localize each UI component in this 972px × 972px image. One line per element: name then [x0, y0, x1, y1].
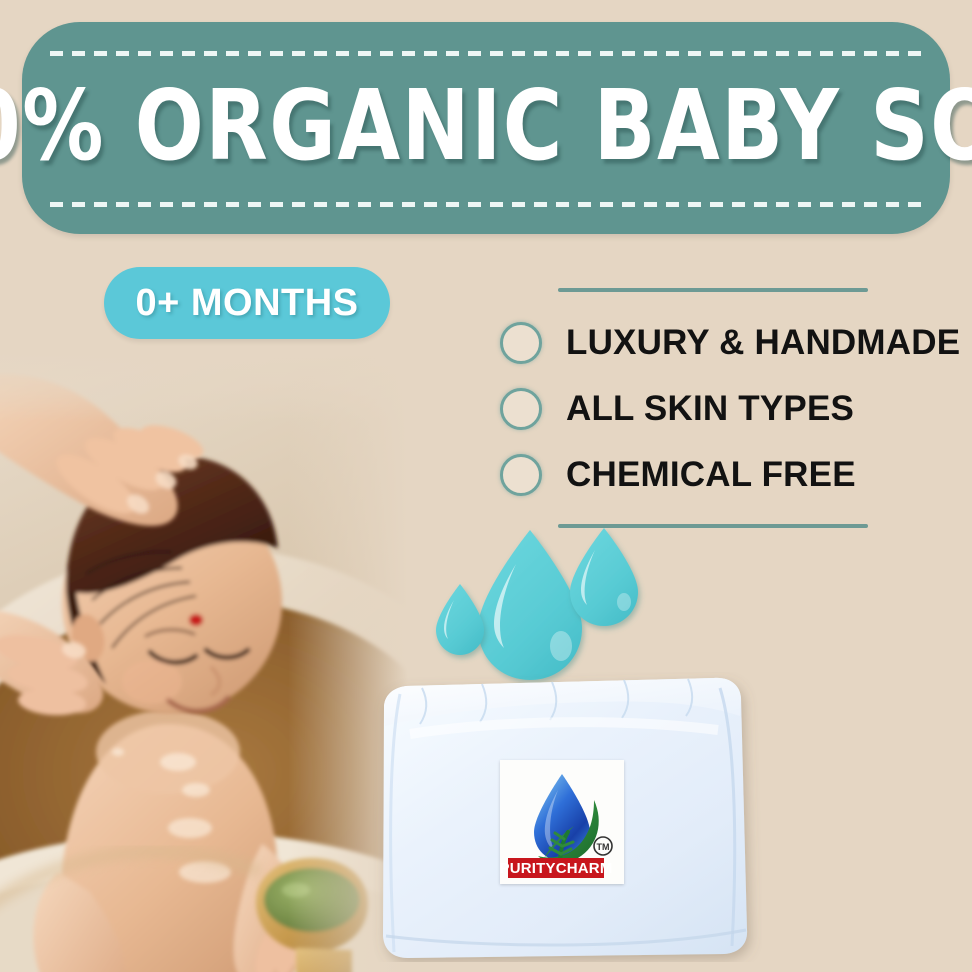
- feature-divider-top: [558, 288, 868, 292]
- baby-bath-photo: [0, 352, 408, 972]
- feature-list: LUXURY & HANDMADE ALL SKIN TYPES CHEMICA…: [492, 288, 962, 528]
- bullet-circle-icon: [500, 322, 542, 364]
- feature-label: LUXURY & HANDMADE: [566, 323, 960, 363]
- dashed-line-bottom: [50, 202, 922, 207]
- poster-canvas: 100% ORGANIC BABY SOAP 0+ MONTHS LUXURY …: [0, 0, 972, 972]
- droplet-small: [436, 584, 484, 655]
- feature-item: LUXURY & HANDMADE: [492, 310, 962, 376]
- page-title: 100% ORGANIC BABY SOAP: [27, 57, 946, 196]
- bullet-circle-icon: [500, 388, 542, 430]
- product-brand-label: TM PURITYCHARM: [500, 760, 624, 884]
- feature-item: CHEMICAL FREE: [492, 442, 962, 508]
- header-banner: 100% ORGANIC BABY SOAP: [22, 22, 950, 234]
- droplet-large: [478, 530, 582, 680]
- dashed-line-top: [50, 51, 922, 56]
- feature-item: ALL SKIN TYPES: [492, 376, 962, 442]
- feature-label: ALL SKIN TYPES: [566, 389, 854, 429]
- age-badge: 0+ MONTHS: [104, 267, 390, 339]
- droplet-medium: [570, 528, 638, 626]
- brand-name-label: PURITYCHARM: [500, 860, 613, 877]
- bullet-circle-icon: [500, 454, 542, 496]
- feature-label: CHEMICAL FREE: [566, 455, 856, 495]
- trademark-label: TM: [597, 842, 610, 852]
